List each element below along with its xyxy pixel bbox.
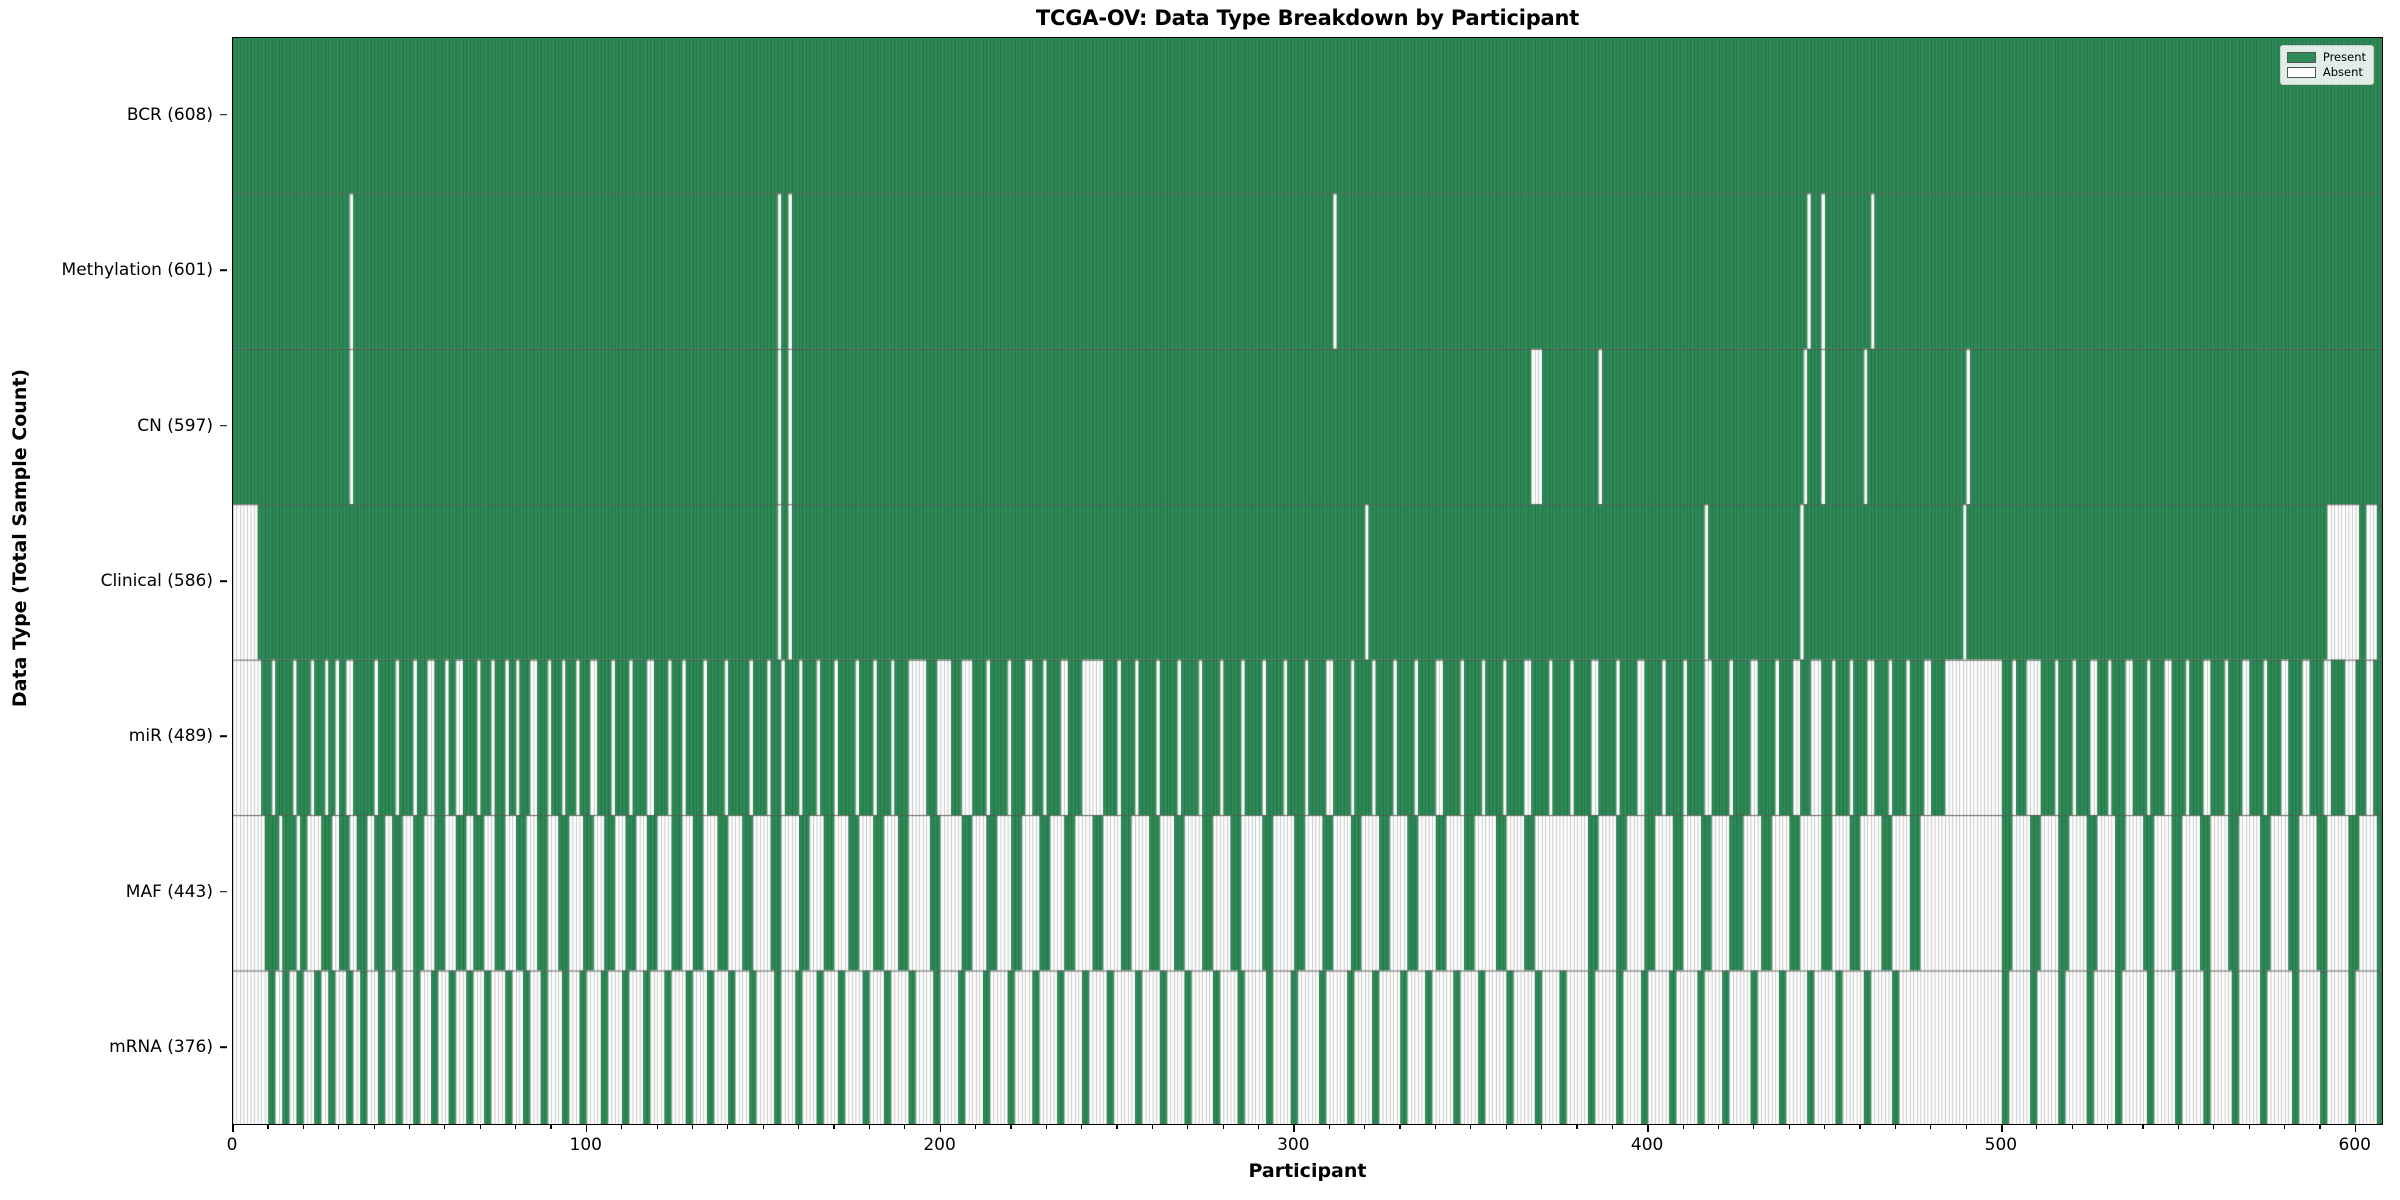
x-tick-minor [621,1125,622,1129]
x-tick-minor [692,1125,693,1129]
x-tick-minor [1187,1125,1188,1129]
x-tick-minor [1046,1125,1047,1129]
x-tick-label: 400 [1631,1135,1663,1155]
x-tick-label: 300 [1277,1135,1309,1155]
x-tick-minor [798,1125,799,1129]
x-tick-minor [1506,1125,1507,1129]
x-tick-minor [869,1125,870,1129]
y-tick-label-clinical: Clinical (586) [101,571,213,591]
y-tick-mark [220,891,227,893]
legend-swatch-icon [2287,52,2316,63]
x-tick-minor [727,1125,728,1129]
x-tick-minor [763,1125,764,1129]
y-tick-label-cn: CN (597) [137,416,213,436]
x-tick-minor [1010,1125,1011,1129]
x-tick-minor [1329,1125,1330,1129]
x-tick-minor [1789,1125,1790,1129]
x-tick-minor [2284,1125,2285,1129]
x-tick-minor [2213,1125,2214,1129]
x-tick-minor [444,1125,445,1129]
x-tick-minor [1399,1125,1400,1129]
x-tick-minor [1612,1125,1613,1129]
y-tick-label-bcr: BCR (608) [127,105,213,125]
x-tick-minor [1930,1125,1931,1129]
x-tick-minor [904,1125,905,1129]
legend-item-absent: Absent [2287,65,2366,80]
chart-figure: TCGA-OV: Data Type Breakdown by Particip… [0,0,2400,1200]
x-tick-minor [1081,1125,1082,1129]
x-tick-minor [1683,1125,1684,1129]
x-tick-minor [1753,1125,1754,1129]
y-tick-label-mrna: mRNA (376) [109,1037,213,1057]
y-tick-label-methylation: Methylation (601) [62,260,213,280]
x-tick-label: 500 [1985,1135,2017,1155]
y-tick-label-mir: miR (489) [129,726,213,746]
x-tick-minor [1718,1125,1719,1129]
x-tick-minor [338,1125,339,1129]
y-tick-mark [220,114,227,116]
y-tick-label-maf: MAF (443) [126,882,213,902]
x-tick-minor [1824,1125,1825,1129]
x-tick-label: 0 [227,1135,238,1155]
x-tick-minor [303,1125,304,1129]
x-tick-mark [2001,1125,2003,1132]
x-tick-minor [480,1125,481,1129]
x-tick-minor [1966,1125,1967,1129]
x-tick-minor [1576,1125,1577,1129]
y-tick-mark [220,1046,227,1048]
x-tick-mark [940,1125,942,1132]
heatmap-plot-area[interactable]: PresentAbsent [232,37,2383,1125]
x-tick-minor [2319,1125,2320,1129]
x-tick-label: 600 [2338,1135,2370,1155]
x-tick-minor [1364,1125,1365,1129]
x-tick-minor [1223,1125,1224,1129]
x-tick-minor [550,1125,551,1129]
legend-swatch-icon [2287,67,2316,78]
x-tick-minor [2142,1125,2143,1129]
x-tick-minor [975,1125,976,1129]
x-tick-minor [1435,1125,1436,1129]
y-tick-mark [220,580,227,582]
x-tick-minor [1859,1125,1860,1129]
x-tick-minor [267,1125,268,1129]
y-axis: BCR (608)Methylation (601)CN (597)Clinic… [0,37,232,1125]
x-tick-minor [1541,1125,1542,1129]
x-tick-minor [2178,1125,2179,1129]
x-axis-title: Participant [232,1160,2383,1182]
heatmap-canvas[interactable] [233,38,2383,1125]
x-tick-minor [2072,1125,2073,1129]
legend: PresentAbsent [2280,45,2374,85]
x-tick-minor [1470,1125,1471,1129]
x-tick-mark [1293,1125,1295,1132]
x-tick-minor [515,1125,516,1129]
x-tick-mark [232,1125,234,1132]
y-tick-mark [220,269,227,271]
x-tick-label: 200 [923,1135,955,1155]
x-tick-label: 100 [570,1135,602,1155]
legend-item-present: Present [2287,50,2366,65]
x-tick-mark [1647,1125,1649,1132]
x-tick-minor [1116,1125,1117,1129]
y-tick-mark [220,425,227,427]
legend-label: Absent [2323,67,2363,79]
page-title: TCGA-OV: Data Type Breakdown by Particip… [232,6,2383,30]
y-axis-title: Data Type (Total Sample Count) [9,0,31,1082]
x-tick-minor [1258,1125,1259,1129]
legend-label: Present [2323,52,2366,64]
x-tick-minor [1895,1125,1896,1129]
x-tick-mark [586,1125,588,1132]
x-tick-minor [2036,1125,2037,1129]
y-tick-mark [220,736,227,738]
x-tick-minor [2249,1125,2250,1129]
x-tick-minor [374,1125,375,1129]
x-tick-minor [1152,1125,1153,1129]
x-tick-minor [409,1125,410,1129]
x-tick-mark [2355,1125,2357,1132]
x-tick-minor [657,1125,658,1129]
x-tick-minor [833,1125,834,1129]
x-tick-minor [2107,1125,2108,1129]
